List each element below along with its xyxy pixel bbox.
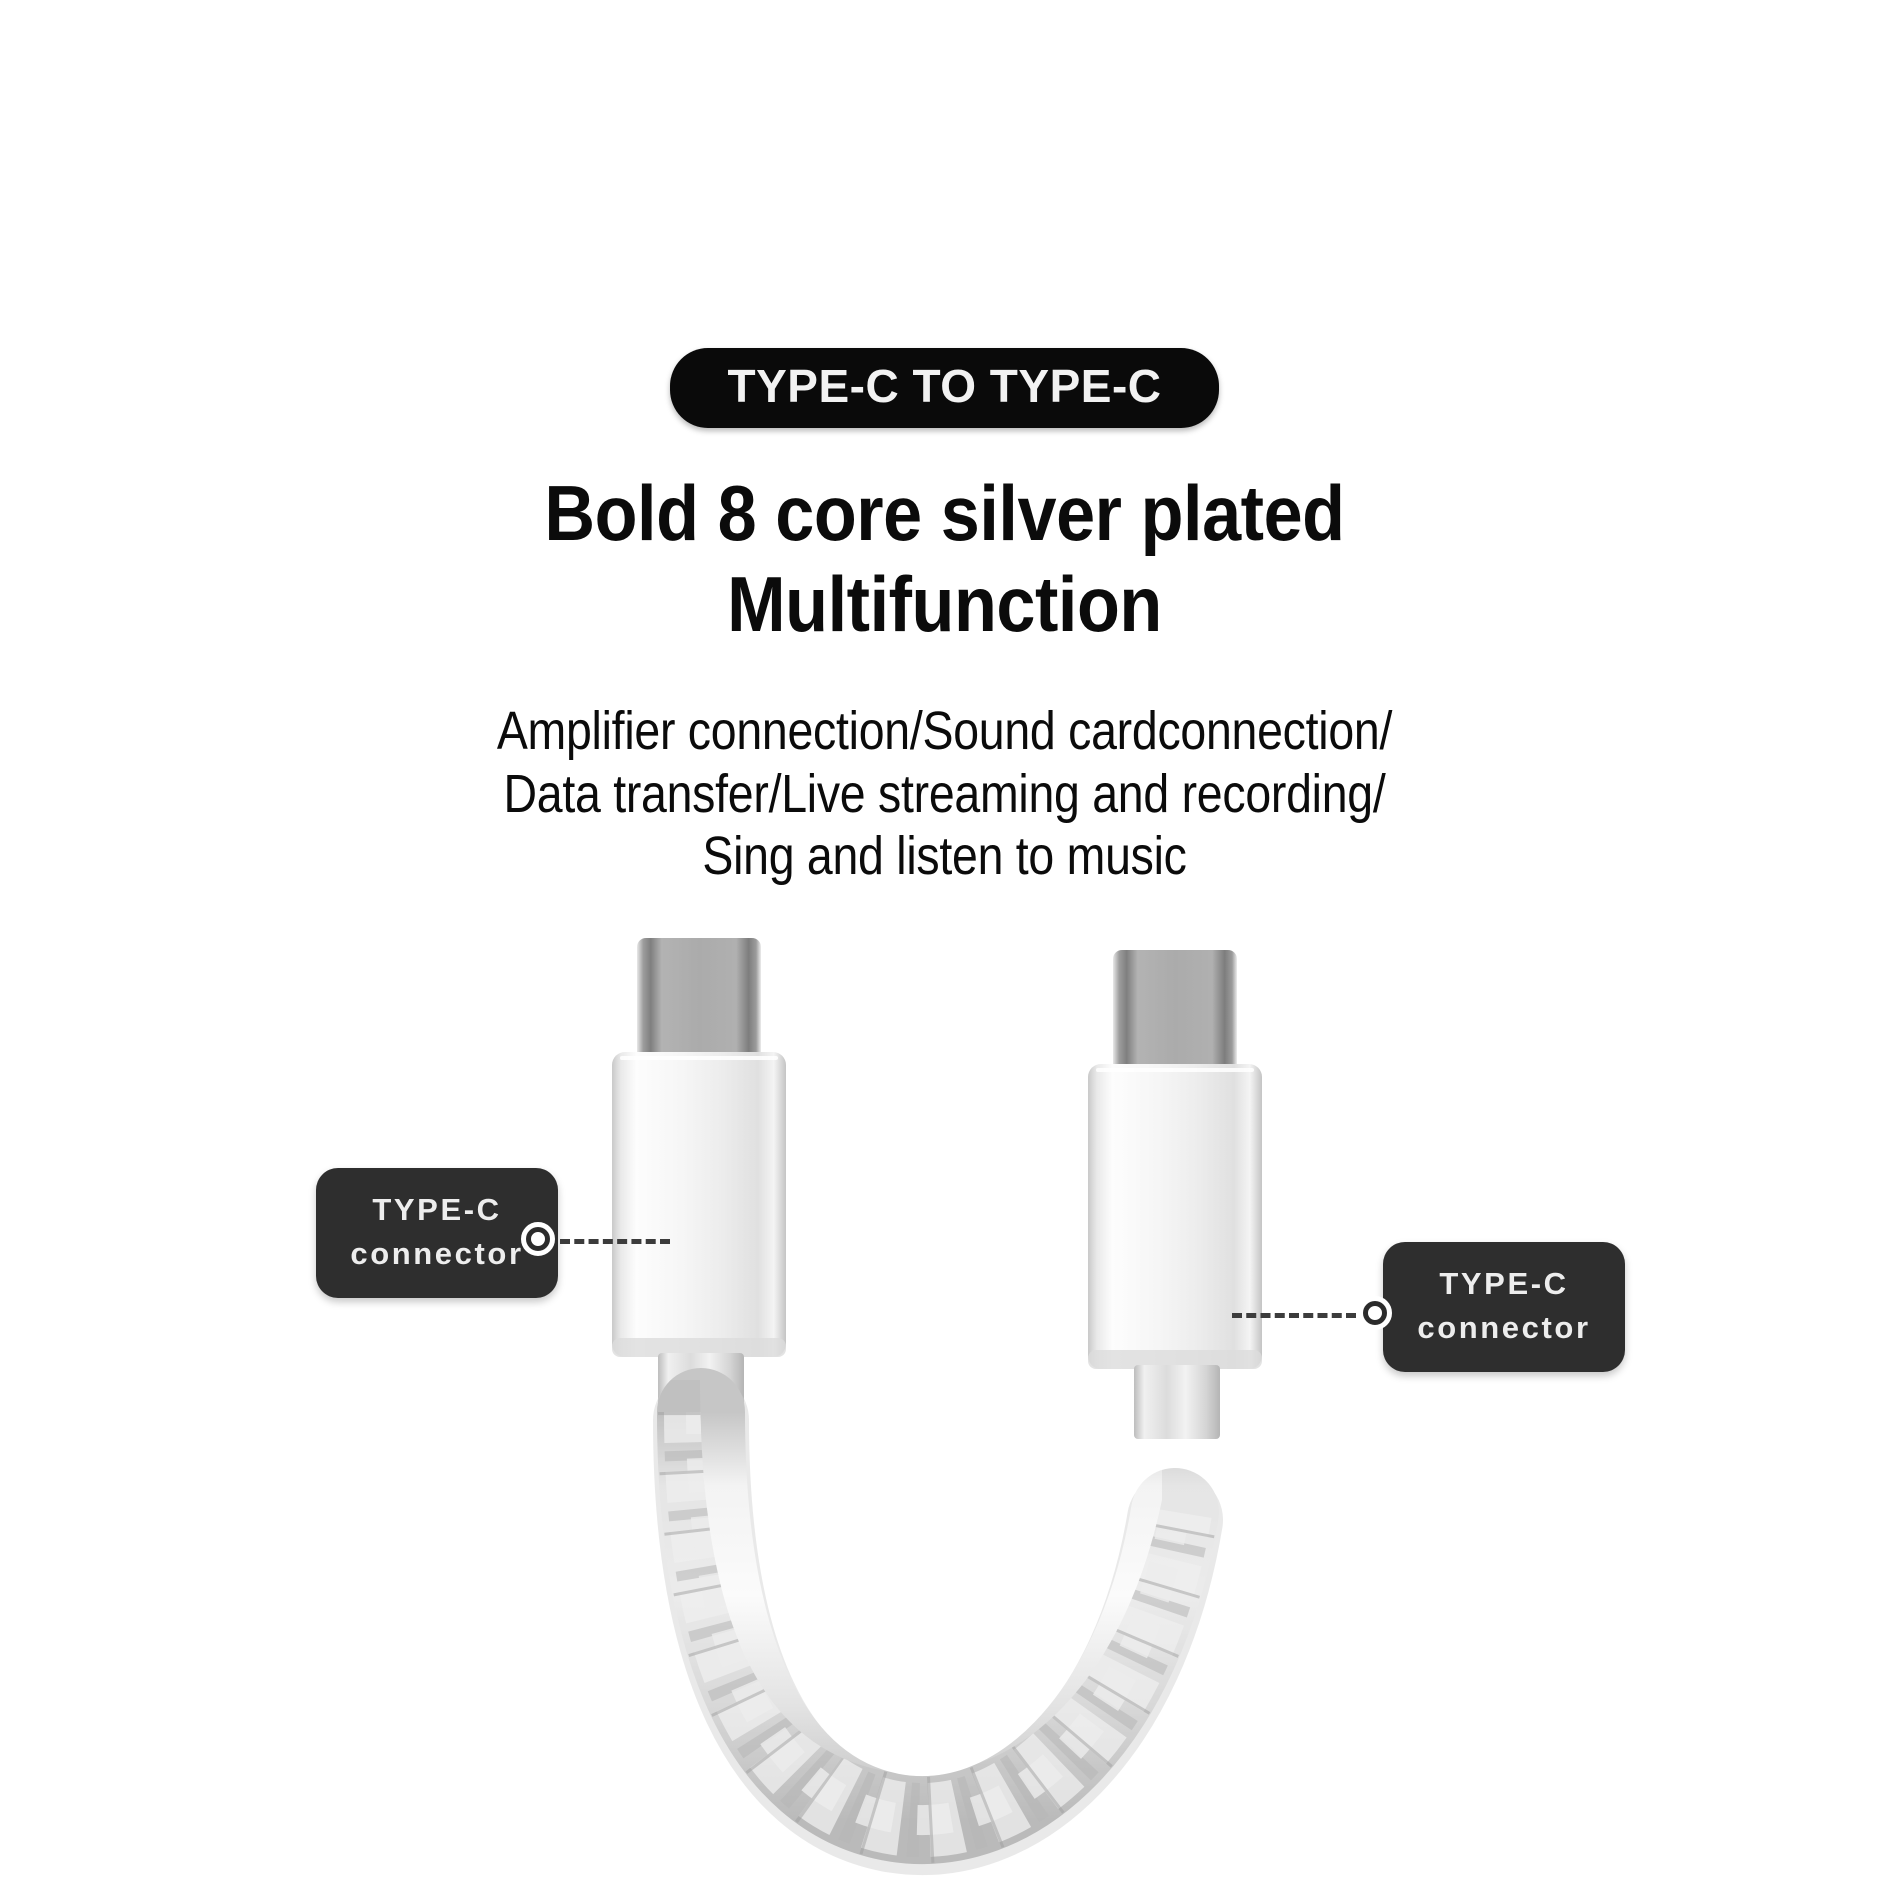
callout-right-line-1: TYPE-C [1409,1262,1599,1306]
right-housing-seam [1096,1068,1254,1072]
left-housing-seam [620,1056,778,1060]
right-connector-housing [1088,1064,1262,1369]
right-housing-lip [1088,1350,1262,1369]
product-marketing-canvas: TYPE-C TO TYPE-C Bold 8 core silver plat… [0,0,1889,1889]
callout-left-ring-marker [521,1222,555,1256]
braid-weave-lines [701,1412,1175,1820]
left-housing-lip [612,1338,786,1357]
right-strain-relief [1134,1365,1220,1439]
braid-edge-shade [701,1412,1175,1820]
right-connector [1088,950,1262,1439]
type-c-to-type-c-badge: TYPE-C TO TYPE-C [670,348,1220,428]
braid-strand-a [701,1412,1175,1820]
headline-line-1: Bold 8 core silver plated [94,470,1794,557]
cable-svg [0,0,1889,1889]
right-connector-tip [1113,950,1237,1078]
headline-block: Bold 8 core silver plated Multifunction [0,470,1889,649]
callout-right-line-2: connector [1409,1306,1599,1350]
cable-shadow [701,1420,1175,1827]
left-strain-relief [658,1353,744,1427]
callout-left-line-1: TYPE-C [342,1188,532,1232]
braid-strand-b [701,1412,1175,1820]
braid-core-highlight [701,1412,1175,1820]
left-connector-tip [637,938,761,1066]
headline-line-2: Multifunction [94,561,1794,648]
feature-line-2: Data transfer/Live streaming and recordi… [132,763,1757,826]
badge-label: TYPE-C TO TYPE-C [728,362,1162,410]
callout-right-leader-line [1232,1313,1356,1318]
callout-right-type-c-connector: TYPE-C connector [1383,1242,1625,1372]
braid-texture [701,1412,1175,1820]
feature-list-block: Amplifier connection/Sound cardconnectio… [0,700,1889,888]
callout-left-ring-inner [527,1228,549,1250]
braided-cable [701,1412,1175,1827]
callout-right-ring-inner [1364,1302,1386,1324]
left-connector [612,938,786,1427]
callout-left-leader-line [560,1239,670,1244]
cable-body [701,1412,1175,1820]
left-connector-housing [612,1052,786,1357]
callout-right-ring-marker [1358,1296,1392,1330]
product-illustration [0,0,1889,1889]
callout-left-line-2: connector [342,1232,532,1276]
feature-line-1: Amplifier connection/Sound cardconnectio… [132,700,1757,763]
feature-line-3: Sing and listen to music [132,825,1757,888]
